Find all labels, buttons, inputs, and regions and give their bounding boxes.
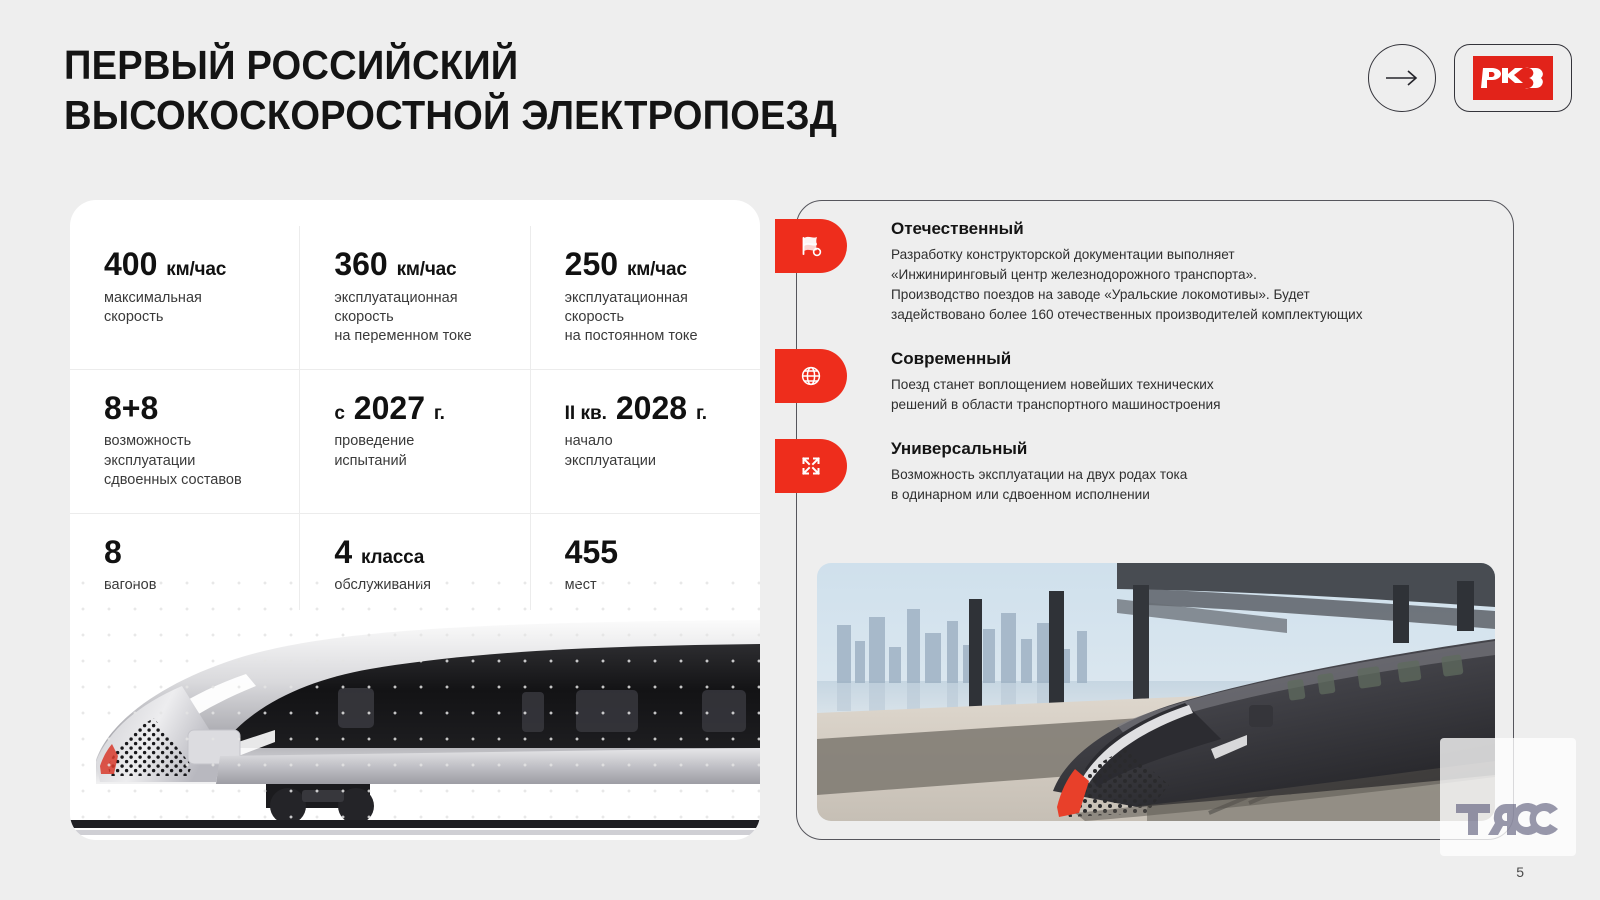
stat-value: II кв. 2028 г. (565, 392, 744, 426)
next-slide-button[interactable] (1368, 44, 1436, 112)
stat-value: 8 (104, 536, 283, 570)
stat-unit: г. (696, 403, 707, 424)
feature-title: Отечественный (891, 219, 1487, 239)
train-side-view-illustration (70, 570, 760, 840)
stat-testing-year: с 2027 г. проведение испытаний (300, 370, 530, 513)
stat-number: 455 (565, 534, 618, 570)
specs-card: 400 км/час максимальная скорость 360 км/… (70, 200, 760, 840)
stat-service-start: II кв. 2028 г. начало эксплуатации (531, 370, 760, 513)
stat-value: 400 км/час (104, 248, 283, 282)
page-title: ПЕРВЫЙ РОССИЙСКИЙ ВЫСОКОСКОРОСТНОЙ ЭЛЕКТ… (64, 40, 837, 140)
globe-network-icon (798, 363, 824, 389)
stat-label: эксплуатационная скорость на переменном … (334, 289, 513, 347)
stat-number: 4 (334, 534, 352, 570)
rzd-logo-icon (1473, 56, 1553, 100)
stat-max-speed: 400 км/час максимальная скорость (70, 226, 300, 369)
slide: ПЕРВЫЙ РОССИЙСКИЙ ВЫСОКОСКОРОСТНОЙ ЭЛЕКТ… (0, 0, 1600, 900)
features-list: Отечественный Разработку конструкторской… (797, 219, 1513, 505)
stat-value: 360 км/час (334, 248, 513, 282)
stat-unit: км/час (627, 259, 687, 280)
stat-number: 2028 (616, 390, 687, 426)
feature-text: Поезд станет воплощением новейших технич… (891, 375, 1487, 415)
stat-operating-speed-dc: 250 км/час эксплуатационная скорость на … (531, 226, 760, 369)
page-number: 5 (1516, 864, 1524, 880)
stat-value: с 2027 г. (334, 392, 513, 426)
stat-prefix: с (334, 403, 345, 424)
stat-value: 250 км/час (565, 248, 744, 282)
expand-arrows-icon (798, 453, 824, 479)
feature-text: Разработку конструкторской документации … (891, 245, 1487, 325)
cab-side-window (1249, 705, 1273, 727)
stat-label: проведение испытаний (334, 432, 513, 471)
stat-number: 400 (104, 246, 157, 282)
feature-badge (775, 349, 847, 403)
feature-title: Современный (891, 349, 1487, 369)
table-row: 400 км/час максимальная скорость 360 км/… (70, 226, 760, 370)
table-row: 8+8 возможность эксплуатации сдвоенных с… (70, 370, 760, 514)
feature-title: Универсальный (891, 439, 1487, 459)
stat-unit: класса (361, 547, 424, 568)
train-render-photo (817, 563, 1495, 821)
feature-badge (775, 219, 847, 273)
flag-icon (798, 233, 824, 259)
feature-domestic: Отечественный Разработку конструкторской… (797, 219, 1513, 325)
feature-body: Отечественный Разработку конструкторской… (891, 219, 1513, 325)
stat-number: 8 (104, 534, 122, 570)
arrow-right-icon (1385, 69, 1419, 87)
stat-value: 8+8 (104, 392, 283, 426)
feature-badge (775, 439, 847, 493)
tass-watermark (1440, 738, 1576, 856)
feature-body: Универсальный Возможность эксплуатации н… (891, 439, 1513, 505)
stat-operating-speed-ac: 360 км/час эксплуатационная скорость на … (300, 226, 530, 369)
stat-label: возможность эксплуатации сдвоенных соста… (104, 432, 283, 490)
tass-logo-icon (1454, 798, 1562, 838)
stat-value: 4 класса (334, 536, 513, 570)
stat-prefix: II кв. (565, 403, 607, 424)
dot-pattern-background (70, 570, 760, 840)
feature-universal: Универсальный Возможность эксплуатации н… (797, 439, 1513, 505)
stat-label: начало эксплуатации (565, 432, 744, 471)
stat-label: эксплуатационная скорость на постоянном … (565, 289, 744, 347)
stat-unit: км/час (166, 259, 226, 280)
rzd-logo-plate[interactable] (1454, 44, 1572, 112)
stat-unit: г. (434, 403, 445, 424)
specs-table: 400 км/час максимальная скорость 360 км/… (70, 200, 760, 610)
feature-body: Современный Поезд станет воплощением нов… (891, 349, 1513, 415)
stat-coupled-sets: 8+8 возможность эксплуатации сдвоенных с… (70, 370, 300, 513)
stat-number: 250 (565, 246, 618, 282)
feature-text: Возможность эксплуатации на двух родах т… (891, 465, 1487, 505)
features-panel: Отечественный Разработку конструкторской… (796, 200, 1514, 840)
stat-value: 455 (565, 536, 744, 570)
stat-number: 360 (334, 246, 387, 282)
stat-number: 8+8 (104, 390, 158, 426)
stat-number: 2027 (354, 390, 425, 426)
stat-unit: км/час (397, 259, 457, 280)
feature-modern: Современный Поезд станет воплощением нов… (797, 349, 1513, 415)
stat-label: максимальная скорость (104, 289, 283, 328)
page-header: ПЕРВЫЙ РОССИЙСКИЙ ВЫСОКОСКОРОСТНОЙ ЭЛЕКТ… (64, 40, 895, 140)
header-actions (1368, 44, 1572, 112)
